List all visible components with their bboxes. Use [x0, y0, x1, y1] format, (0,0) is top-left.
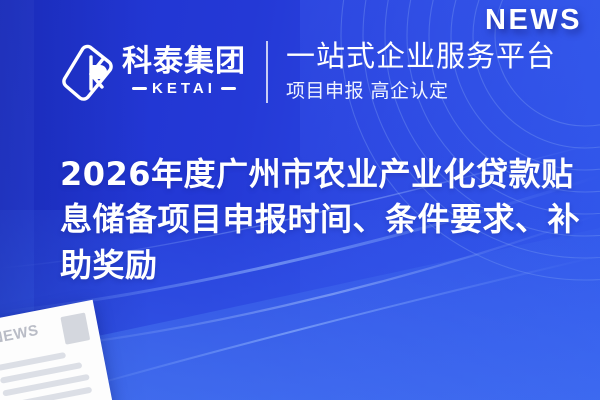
- brand-wordmark: 科泰集团 KETAI: [122, 46, 246, 98]
- eyebrow-news-label: NEWS: [485, 4, 582, 37]
- newspaper-thumbnail: [60, 312, 90, 344]
- newspaper-news-label: NEWS: [0, 317, 64, 347]
- tagline-block: 一站式企业服务平台 项目申报 高企认定: [286, 40, 556, 103]
- ketai-kp-monogram-icon: [60, 41, 116, 103]
- headline-title: 2026年度广州市农业产业化贷款贴息储备项目申报时间、条件要求、补助奖励: [60, 152, 588, 288]
- brand-name-en-row: KETAI: [122, 80, 246, 97]
- newspaper-masthead: NEWS: [0, 312, 90, 358]
- brand-name-cn: 科泰集团: [122, 46, 246, 78]
- wordmark-dash-left: [132, 87, 147, 90]
- brand-header: 科泰集团 KETAI 一站式企业服务平台 项目申报 高企认定: [60, 40, 556, 103]
- header-divider: [266, 41, 268, 103]
- tagline-primary: 一站式企业服务平台: [286, 40, 556, 72]
- wordmark-dash-right: [221, 87, 236, 90]
- tagline-secondary: 项目申报 高企认定: [286, 76, 556, 103]
- news-banner: NEWS 科泰集团 KETAI 一站式企业服务平台 项目申报 高企认定: [0, 0, 600, 400]
- brand-name-en: KETAI: [152, 80, 216, 97]
